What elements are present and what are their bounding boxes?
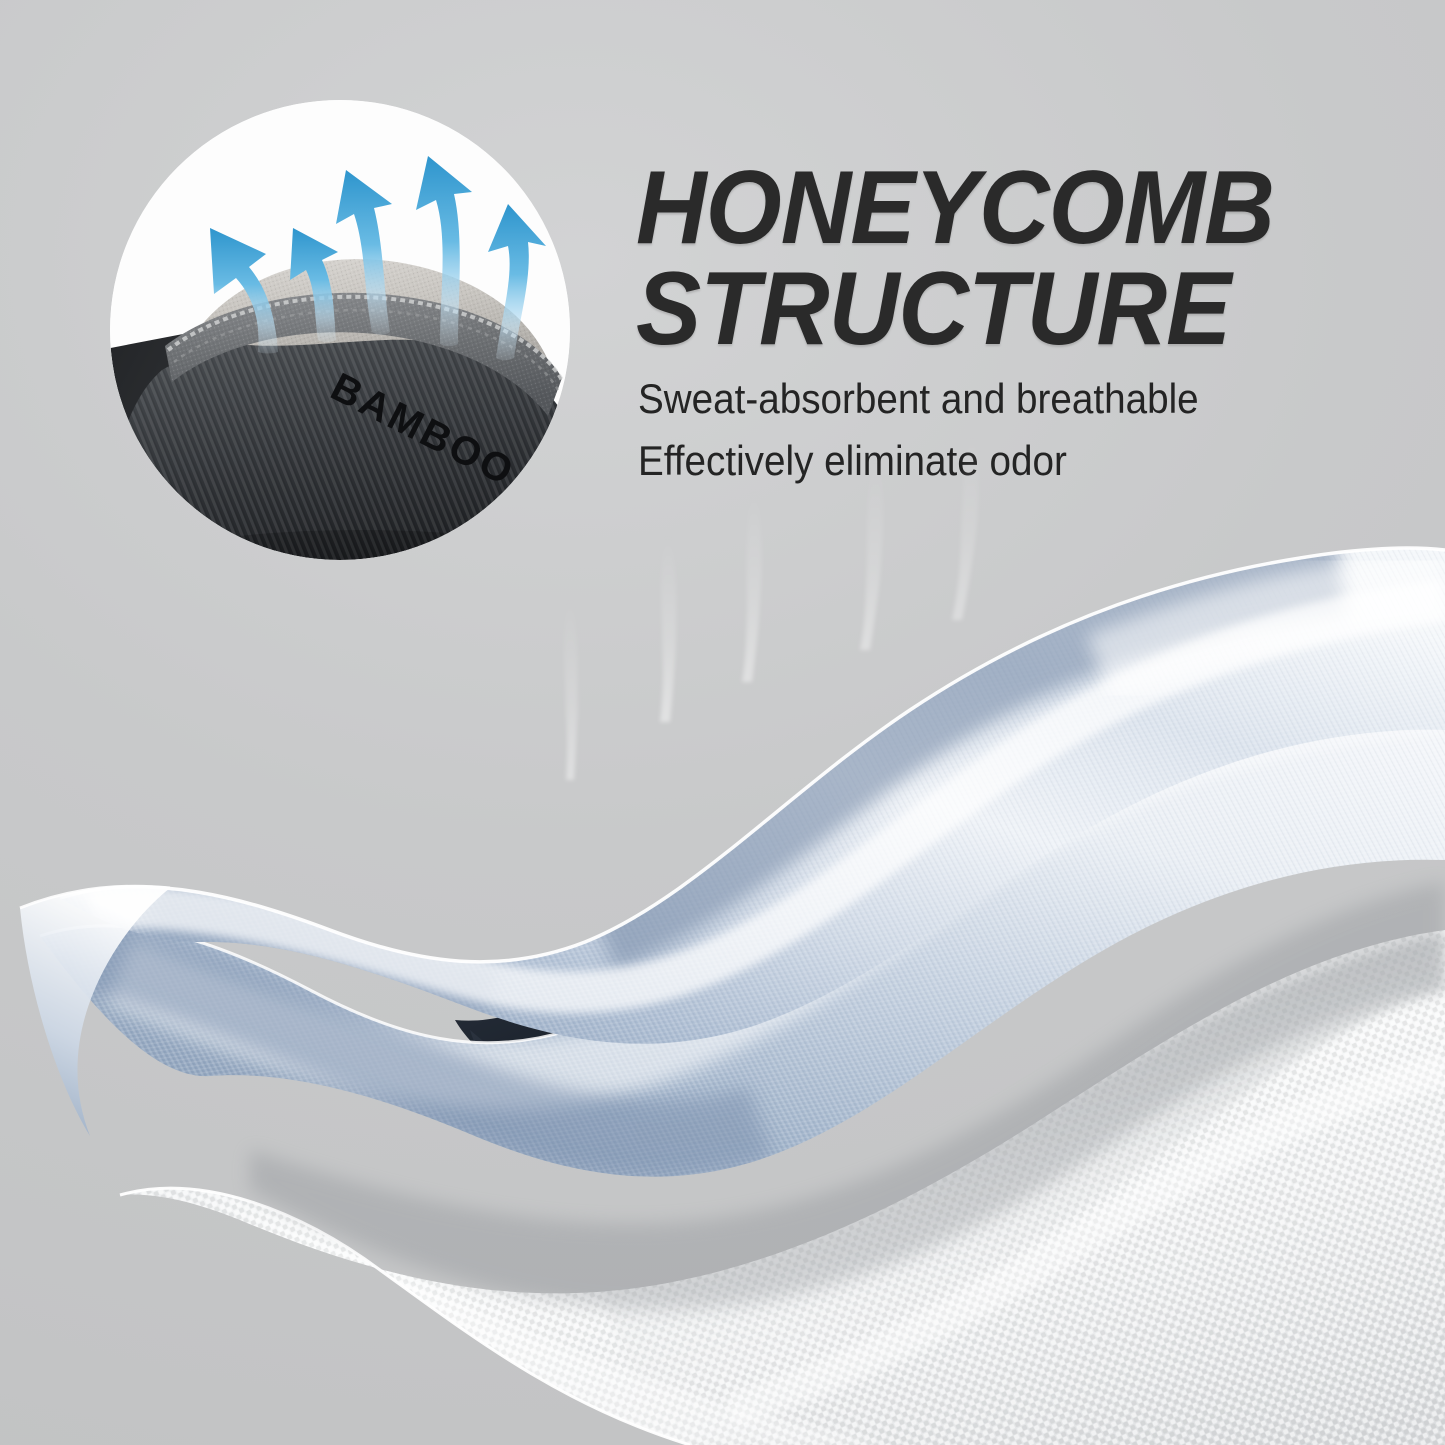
vapor-wisp-5 [952, 434, 979, 620]
subhead-line-1: Sweat-absorbent and breathable [638, 378, 1337, 420]
page-title: HONEYCOMB STRUCTURE [636, 158, 1350, 360]
fabric-svg [0, 430, 1445, 1445]
vapor-wisp-3 [742, 492, 762, 682]
fabric-layers-illustration [0, 430, 1445, 1445]
vapor-wisp-4 [860, 460, 883, 650]
vapor-wisp-1 [564, 600, 578, 780]
vapor-wisp-2 [660, 536, 676, 722]
product-feature-poster: BAMBOO HONEYCOMB STRUC [0, 0, 1445, 1445]
